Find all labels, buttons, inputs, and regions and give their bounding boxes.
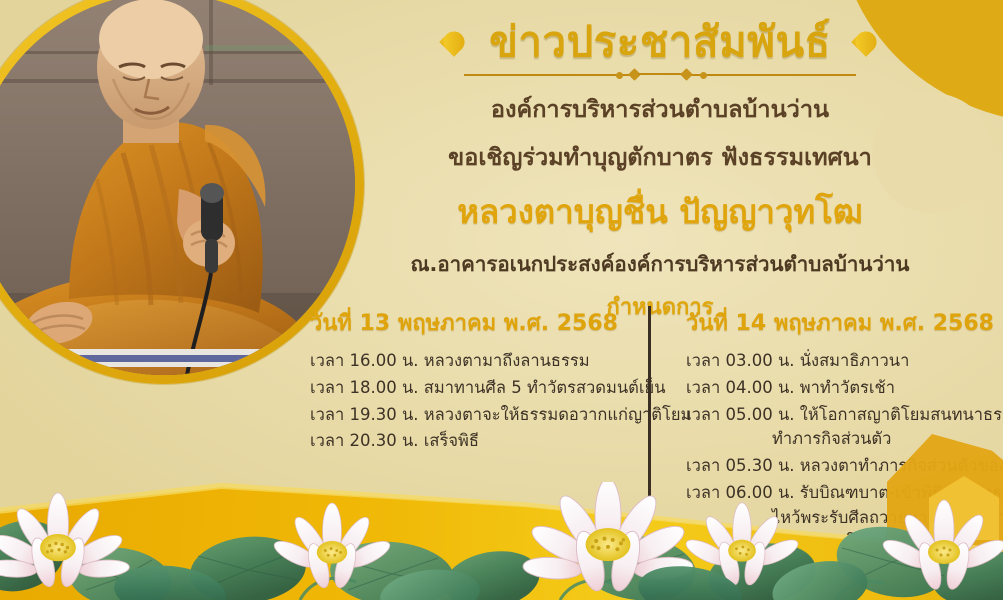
title-row: ข่าวประชาสัมพันธ์ — [330, 18, 990, 65]
venue-line: ณ.อาคารอเนกประสงค์องค์การบริหารส่วนตำบลบ… — [330, 248, 990, 281]
ornamental-divider-icon — [464, 68, 856, 81]
monk-name: หลวงตาบุญชื่น ปัญญาวุทโฒ — [330, 185, 990, 238]
page-title: ข่าวประชาสัมพันธ์ — [489, 18, 831, 65]
list-item: เวลา 03.00 น. นั่งสมาธิภาวนา — [686, 349, 1003, 374]
day1-heading: วันที่ 13 พฤษภาคม พ.ศ. 2568 — [300, 305, 648, 340]
quatrefoil-ornament-right-icon — [849, 25, 883, 59]
list-item: เวลา 16.00 น. หลวงตามาถึงลานธรรม — [300, 349, 648, 374]
announcement-poster: ข่าวประชาสัมพันธ์ องค์การบริหารส่วนตำบลบ… — [0, 0, 1003, 600]
quatrefoil-ornament-left-icon — [437, 25, 471, 59]
invitation-line: ขอเชิญร่วมทำบุญตักบาตร ฟังธรรมเทศนา — [330, 139, 990, 176]
day2-heading: วันที่ 14 พฤษภาคม พ.ศ. 2568 — [686, 305, 1003, 340]
list-item: เวลา 20.30 น. เสร็จพิธี — [300, 429, 648, 454]
header-block: ข่าวประชาสัมพันธ์ องค์การบริหารส่วนตำบลบ… — [330, 18, 990, 324]
list-item-text: เวลา 05.00 น. ให้โอกาสญาติโยมสนทนาธรรมแล… — [686, 405, 1003, 424]
list-item: เวลา 19.30 น. หลวงตาจะให้ธรรมดอวากแก่ญาต… — [300, 403, 648, 428]
organization-name: องค์การบริหารส่วนตำบลบ้านว่าน — [330, 91, 990, 128]
lotus-garden-decoration — [0, 482, 1003, 600]
list-item: เวลา 18.00 น. สมาทานศีล 5 ทำวัตรสวดมนต์เ… — [300, 376, 648, 401]
list-item: เวลา 04.00 น. พาทำวัตรเช้า — [686, 376, 1003, 401]
